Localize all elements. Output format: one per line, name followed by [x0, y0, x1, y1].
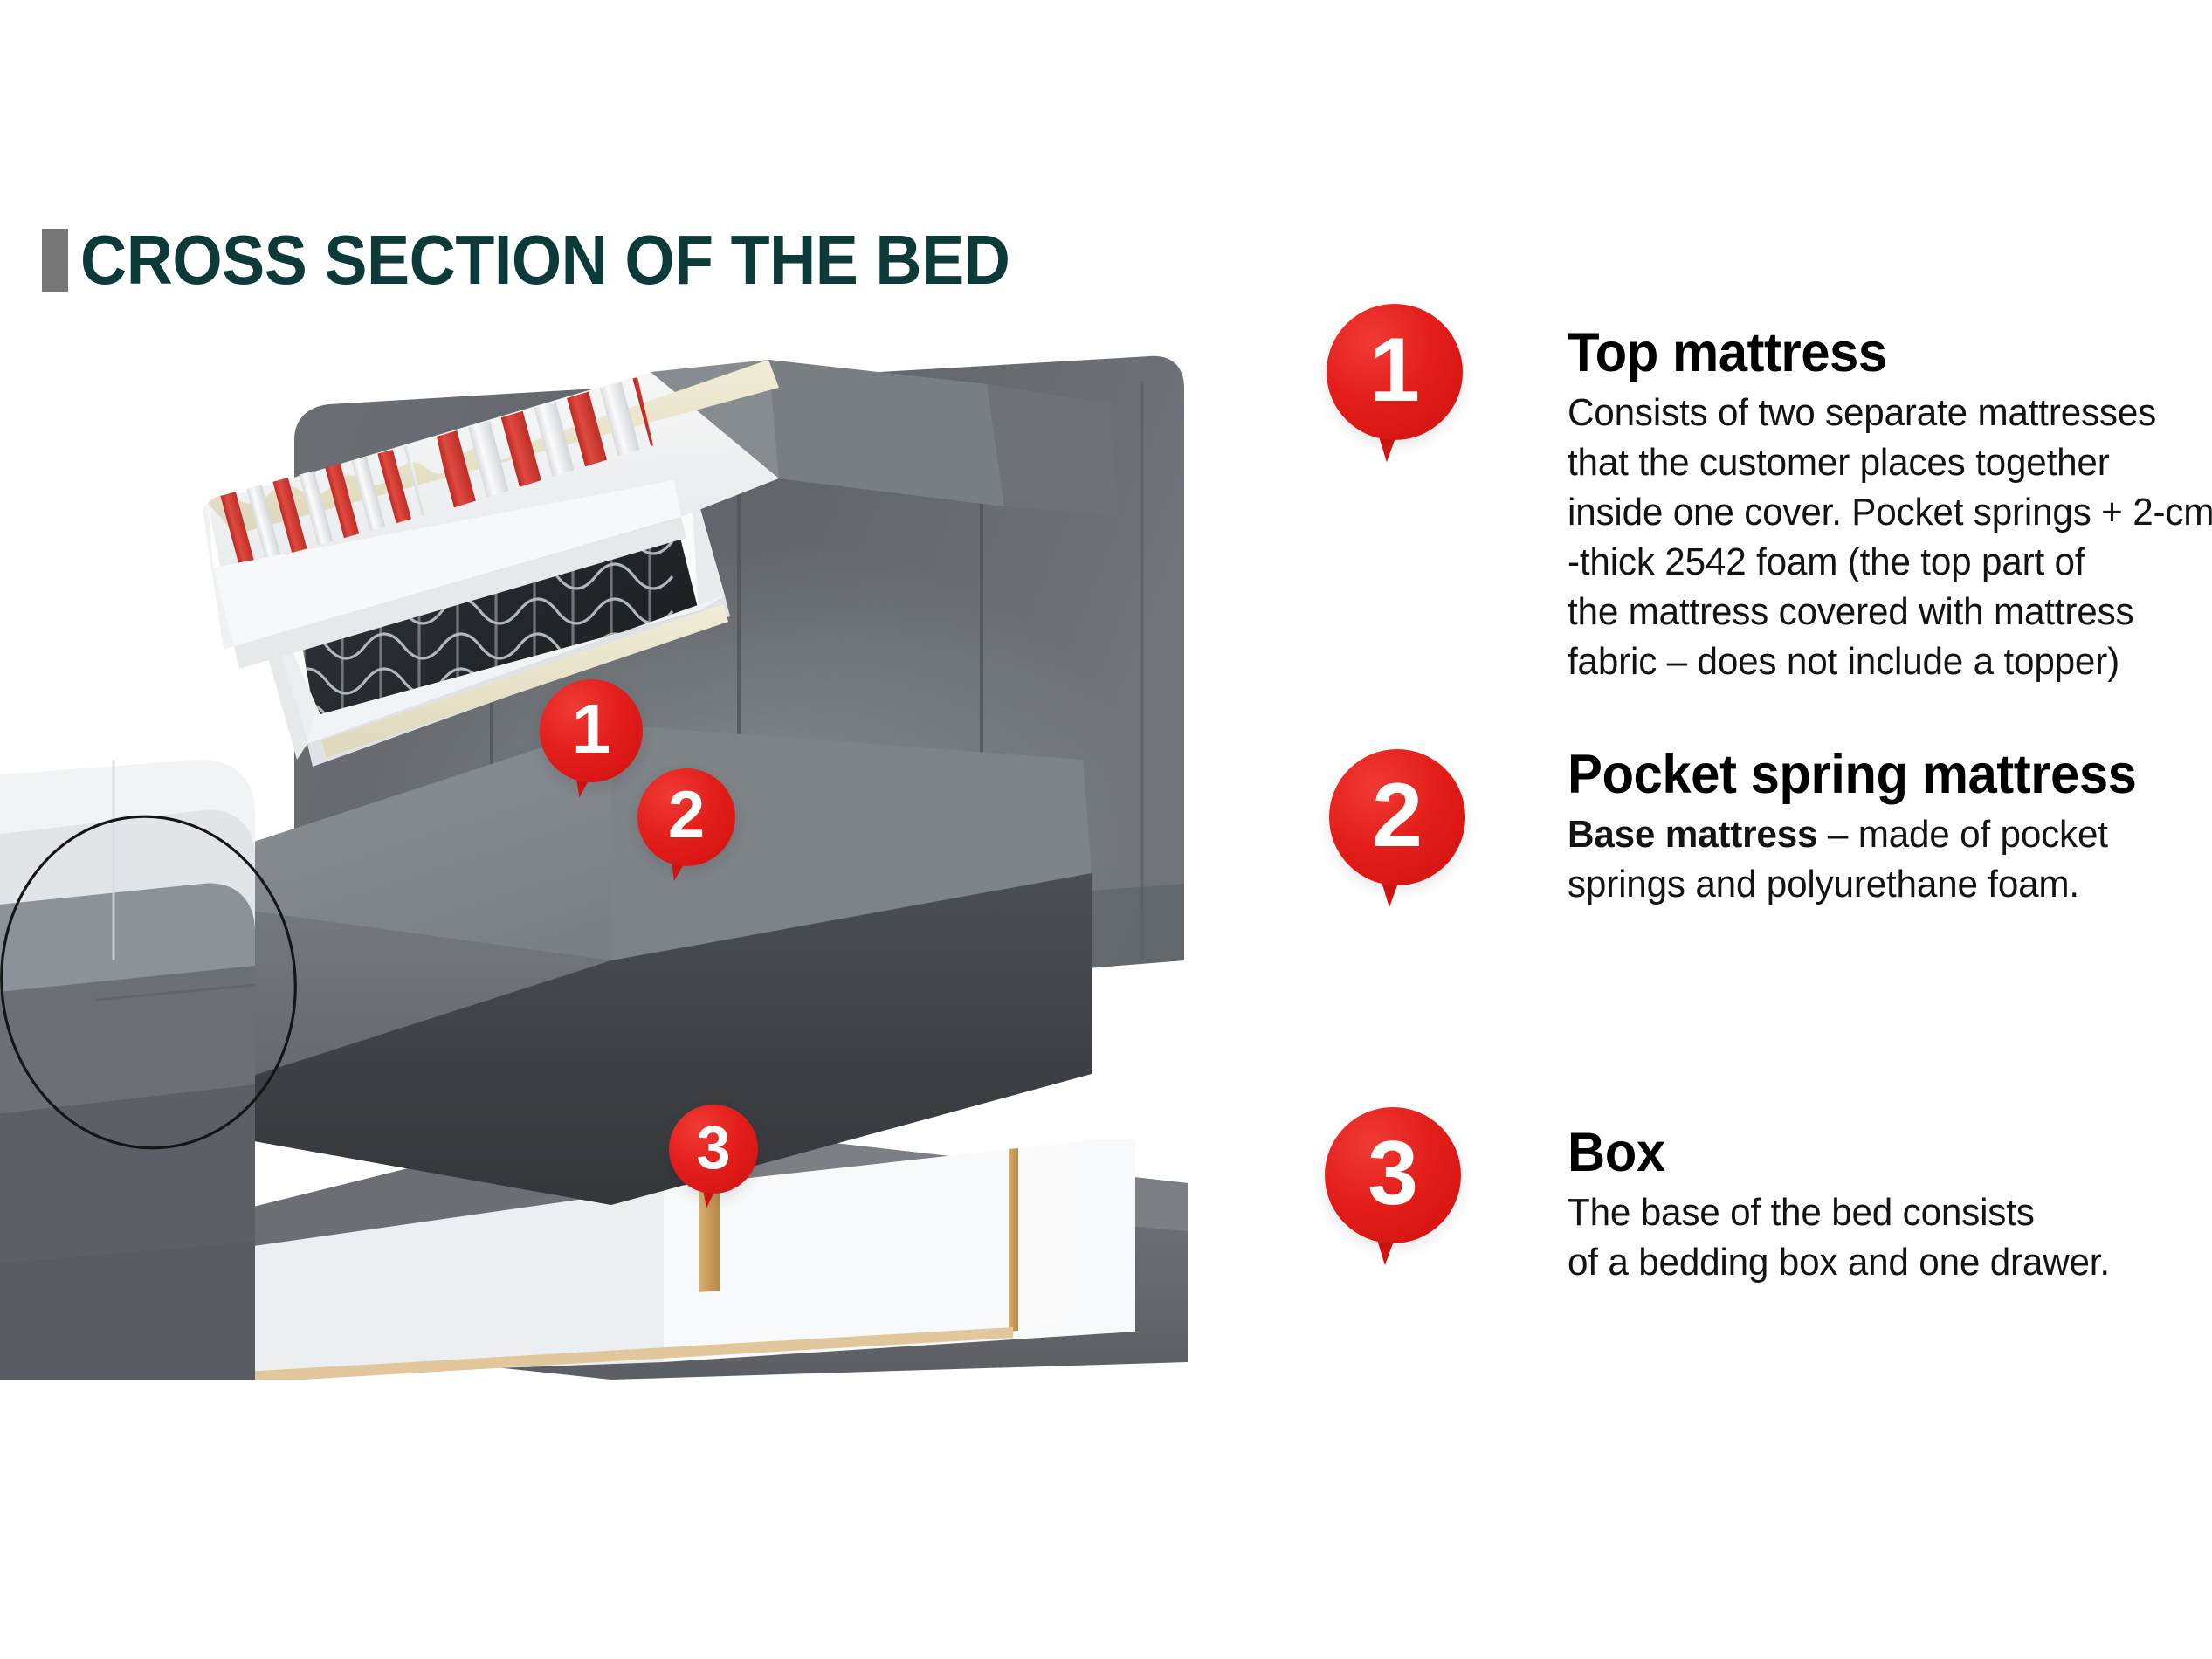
legend-pin-1[interactable]: 1 [1327, 304, 1463, 440]
legend-line: -thick 2542 foam (the top part of [1568, 537, 2205, 587]
pin-number: 2 [637, 768, 735, 866]
pin-number: 1 [1327, 304, 1463, 440]
image-callout-pin-2[interactable]: 2 [637, 768, 735, 866]
left-mattress-stack [0, 760, 255, 1380]
image-callout-pin-1[interactable]: 1 [540, 679, 643, 782]
legend-line: the mattress covered with mattress [1568, 587, 2205, 637]
legend-line-rest: – made of pocket [1817, 813, 2108, 856]
legend-block-top-mattress: Top mattress Consists of two separate ma… [1568, 325, 2212, 687]
title-accent-bar [42, 229, 68, 292]
legend-line: fabric – does not include a topper) [1568, 637, 2205, 686]
page-title-row: CROSS SECTION OF THE BED [42, 225, 1091, 295]
legend-heading: Box [1568, 1125, 2198, 1182]
legend-heading: Top mattress [1568, 325, 2198, 382]
legend-line: Base mattress – made of pocket [1568, 809, 2205, 859]
legend-pin-2[interactable]: 2 [1329, 749, 1465, 885]
page-title: CROSS SECTION OF THE BED [80, 225, 1010, 295]
legend-body: The base of the bed consists of a beddin… [1568, 1187, 2205, 1287]
pin-number: 1 [540, 679, 643, 782]
legend-line: springs and polyurethane foam. [1568, 859, 2205, 909]
legend-line: inside one cover. Pocket springs + 2-cm [1568, 487, 2205, 537]
legend-line: that the customer places together [1568, 437, 2205, 487]
pin-number: 3 [669, 1105, 758, 1194]
legend-body: Base mattress – made of pocket springs a… [1568, 809, 2205, 909]
legend-pin-3[interactable]: 3 [1325, 1107, 1461, 1243]
legend-line: The base of the bed consists [1568, 1187, 2205, 1237]
legend-emphasis: Base mattress [1568, 813, 1817, 856]
legend-heading: Pocket spring mattress [1568, 747, 2198, 804]
pin-number: 3 [1325, 1107, 1461, 1243]
legend-line: of a bedding box and one drawer. [1568, 1237, 2205, 1287]
legend-body: Consists of two separate mattresses that… [1568, 388, 2205, 687]
pin-number: 2 [1329, 749, 1465, 885]
legend-block-pocket-spring-mattress: Pocket spring mattress Base mattress – m… [1568, 747, 2212, 909]
infographic-canvas: CROSS SECTION OF THE BED [0, 0, 2212, 1659]
image-callout-pin-3[interactable]: 3 [669, 1105, 758, 1194]
legend-block-box: Box The base of the bed consists of a be… [1568, 1125, 2212, 1287]
legend-line: Consists of two separate mattresses [1568, 388, 2205, 437]
